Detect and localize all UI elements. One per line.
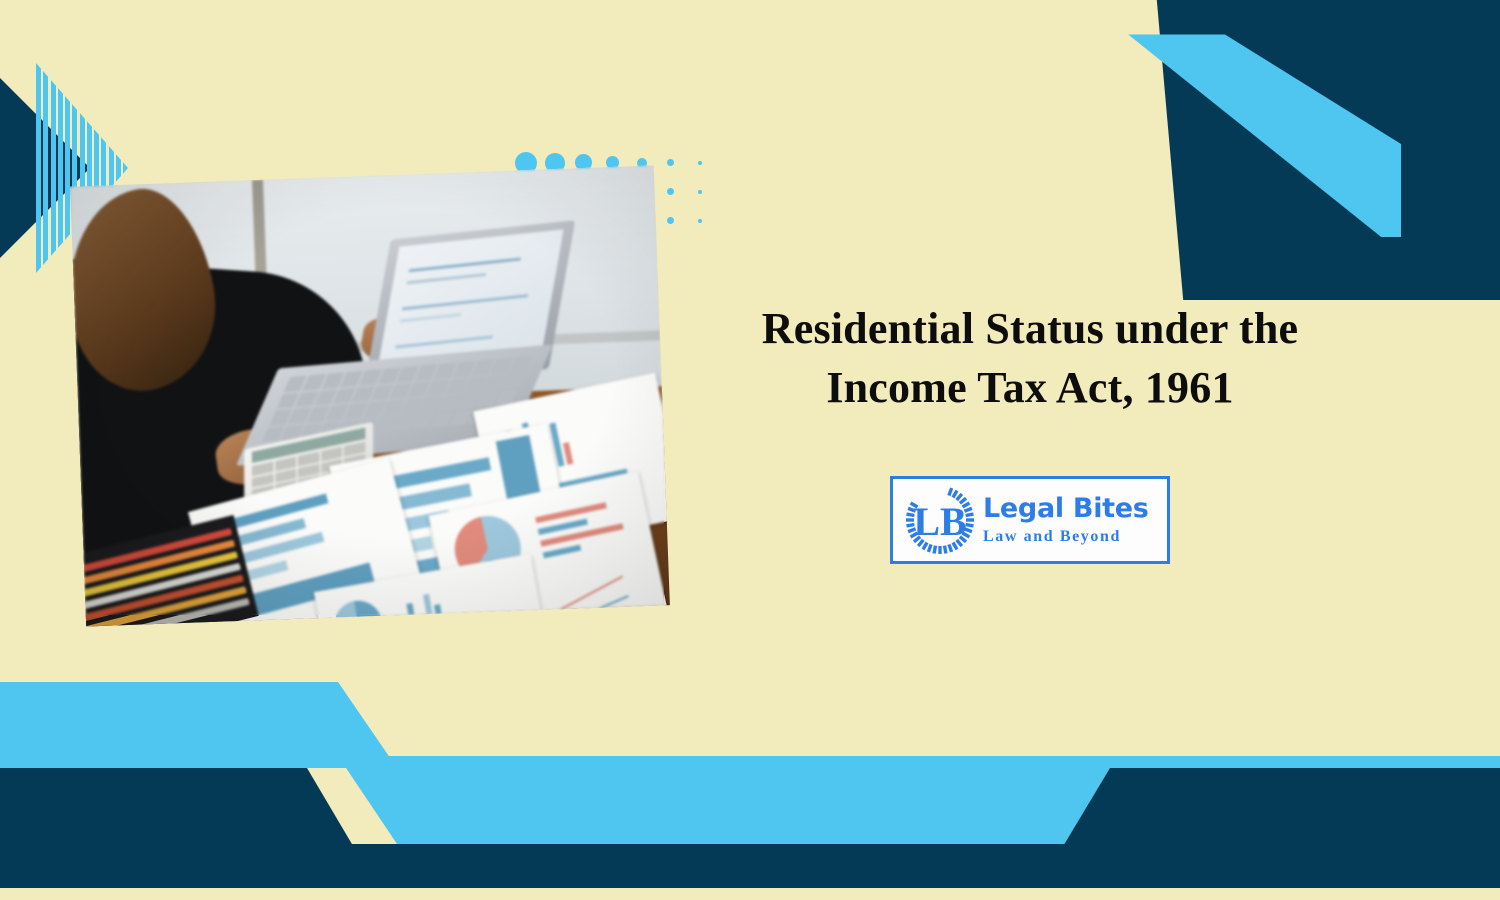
bottom-navy-base-bar-icon xyxy=(0,844,1500,888)
logo-monogram-text: LB xyxy=(913,499,966,544)
page-title-line-1: Residential Status under the xyxy=(700,300,1360,359)
poster-canvas: Residential Status under the Income Tax … xyxy=(0,0,1500,900)
dot xyxy=(698,190,702,194)
bottom-decoration xyxy=(0,670,1500,900)
hero-photo-image xyxy=(70,165,670,626)
dot xyxy=(667,217,674,224)
hero-photo xyxy=(70,165,670,626)
logo-name: Legal Bites xyxy=(983,495,1149,522)
dot xyxy=(698,219,702,223)
dot xyxy=(698,161,702,165)
logo-monogram-icon: LB xyxy=(903,483,977,557)
dot xyxy=(667,188,674,195)
page-title-line-2: Income Tax Act, 1961 xyxy=(700,359,1360,418)
bottom-blue-band-left-icon xyxy=(0,682,1500,768)
dot xyxy=(667,159,674,166)
legal-bites-logo[interactable]: LB Legal Bites Law and Beyond xyxy=(890,476,1170,564)
page-title: Residential Status under the Income Tax … xyxy=(700,300,1360,417)
logo-wordmark: Legal Bites Law and Beyond xyxy=(983,495,1149,545)
logo-tagline: Law and Beyond xyxy=(983,529,1149,545)
